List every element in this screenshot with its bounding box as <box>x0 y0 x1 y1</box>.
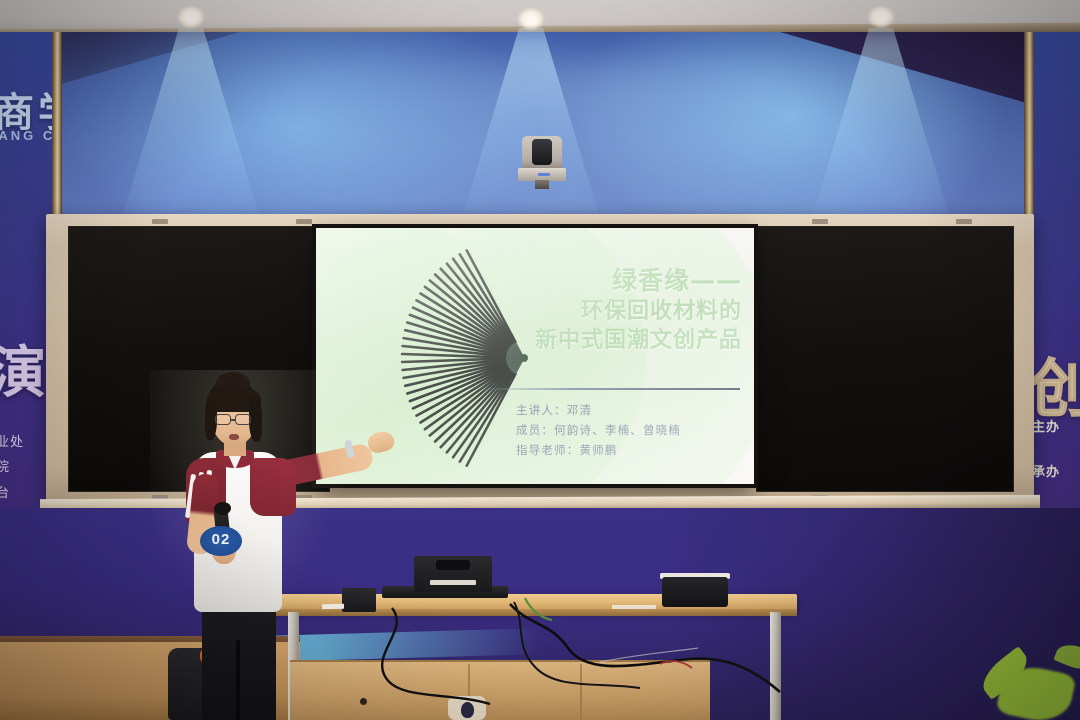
banner-right-org-0: 主办 <box>1034 416 1080 435</box>
slide-title-divider <box>482 388 740 390</box>
laptop-label-strip <box>430 580 476 585</box>
presenter: 02 <box>150 378 390 720</box>
slide-title-line-1: 环保回收材料的 <box>474 297 742 326</box>
camera-lens <box>532 139 552 165</box>
presenter-mouth <box>229 434 239 440</box>
laptop-hinge <box>436 560 470 570</box>
eyeglass-lens-left-icon <box>215 414 231 425</box>
banner-right-big-char: 创 <box>1034 338 1080 428</box>
slide-title-line-2: 新中式国潮文创产品 <box>474 326 742 355</box>
board-clip-1 <box>152 219 168 224</box>
camera-mount-stem <box>535 180 549 189</box>
banner-left-org-1: 院 <box>0 455 52 480</box>
eyeglass-bridge <box>231 419 236 421</box>
slide-title: 绿香缘—— 环保回收材料的 新中式国潮文创产品 <box>474 264 742 355</box>
camera-led <box>538 173 550 176</box>
banner-left-big-char: 演 <box>0 328 48 409</box>
banner-left-title-en: HANG COLLEGE <box>0 128 52 143</box>
blackboard-panel-right <box>756 226 1014 492</box>
slide-credit-presenter: 主讲人：邓清 <box>516 400 738 420</box>
board-clip-4 <box>956 219 972 224</box>
presentation-scene-photo: 商学院 HANG COLLEGE 演 业处 院 台 协会 创 主办 承办 协办 <box>0 0 1080 720</box>
board-clip-2 <box>296 219 312 224</box>
ptz-camera-icon <box>518 136 566 188</box>
downlight-1-icon <box>178 6 204 28</box>
downlight-2-icon <box>518 8 544 30</box>
slide-credit-members: 成员：何韵诗、李楠、曾晓楠 <box>516 420 738 440</box>
banner-left-org-0: 业处 <box>0 430 52 455</box>
contestant-number-text: 02 <box>200 531 242 548</box>
eyeglass-lens-right-icon <box>235 414 251 425</box>
presenter-right-shoulder <box>250 458 296 516</box>
slide-credits: 主讲人：邓清 成员：何韵诗、李楠、曾晓楠 指导老师：黄师鹏 <box>488 400 738 460</box>
banner-right-org-1: 承办 <box>1034 461 1080 480</box>
slide-credit-advisor: 指导老师：黄师鹏 <box>516 440 738 460</box>
downlight-3-icon <box>868 6 894 28</box>
slide-title-line-0: 绿香缘—— <box>474 264 742 297</box>
board-clip-3 <box>812 219 828 224</box>
presenter-leg-gap <box>236 640 240 720</box>
